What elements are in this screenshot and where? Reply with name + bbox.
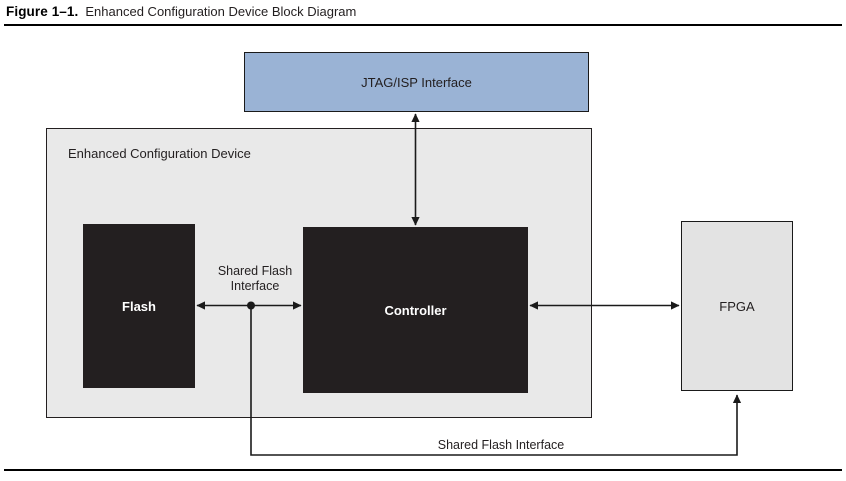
annotation-line-2: Interface bbox=[196, 279, 314, 294]
block-controller: Controller bbox=[303, 227, 528, 393]
block-label-flash: Flash bbox=[122, 299, 156, 314]
block-label-controller: Controller bbox=[384, 303, 446, 318]
block-label-jtag-isp-interface: JTAG/ISP Interface bbox=[361, 75, 472, 90]
figure-caption: Figure 1–1. Enhanced Configuration Devic… bbox=[6, 4, 840, 22]
figure-title: Enhanced Configuration Device Block Diag… bbox=[85, 4, 356, 19]
annotation-shared-flash-interface-top: Shared Flash Interface bbox=[196, 264, 314, 294]
annotation-shared-flash-interface-bottom: Shared Flash Interface bbox=[356, 438, 646, 453]
footer-divider-rule bbox=[4, 469, 842, 471]
block-diagram: Enhanced Configuration Device JTAG/ISP I… bbox=[0, 28, 846, 468]
caption-divider-rule bbox=[4, 24, 842, 26]
block-fpga: FPGA bbox=[681, 221, 793, 391]
block-jtag-isp-interface: JTAG/ISP Interface bbox=[244, 52, 589, 112]
figure-number-label: Figure 1–1. bbox=[6, 4, 78, 19]
block-flash: Flash bbox=[83, 224, 195, 388]
annotation-line-1: Shared Flash bbox=[196, 264, 314, 279]
block-label-enhanced-configuration-device: Enhanced Configuration Device bbox=[68, 146, 251, 161]
block-label-fpga: FPGA bbox=[719, 299, 754, 314]
